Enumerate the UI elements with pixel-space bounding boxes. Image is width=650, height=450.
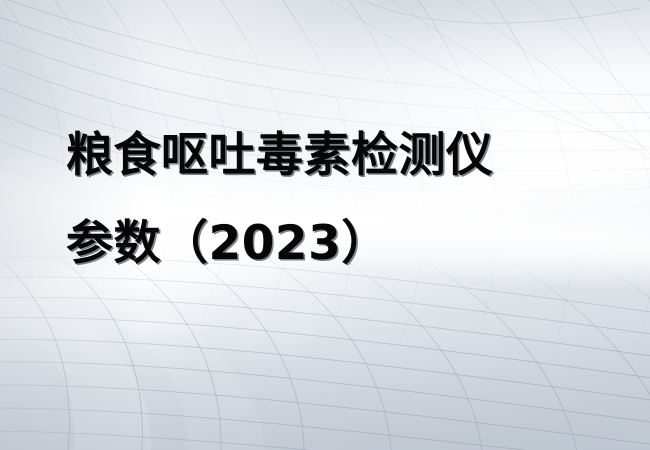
title-line-2: 参数（2023）: [66, 200, 606, 288]
title-line-1: 粮食呕吐毒素检测仪: [66, 112, 606, 200]
banner-title: 粮食呕吐毒素检测仪 参数（2023）: [66, 112, 606, 288]
title-banner: 粮食呕吐毒素检测仪 参数（2023）: [0, 0, 650, 450]
